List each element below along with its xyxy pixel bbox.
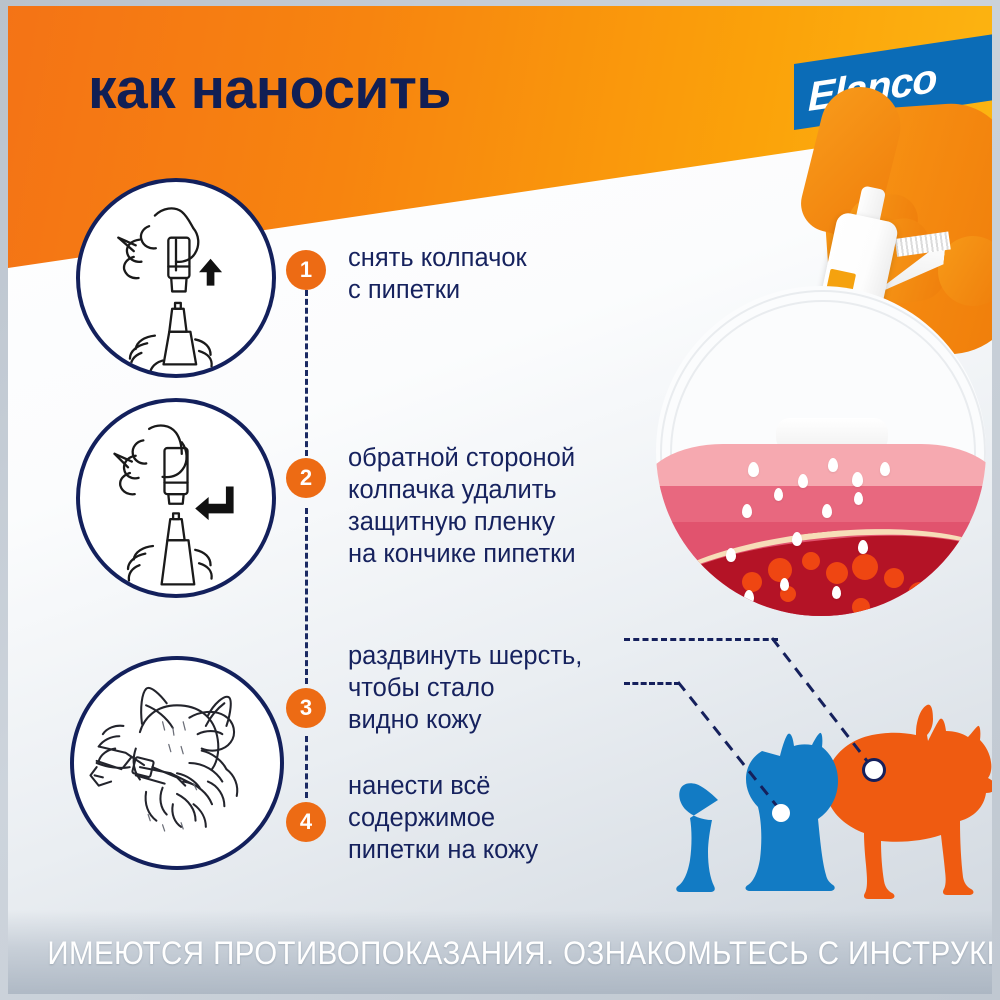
step-2-illustration	[76, 398, 276, 598]
liquid-droplet	[742, 504, 752, 518]
liquid-droplet	[792, 532, 802, 546]
left-bend-arrow-icon	[195, 486, 233, 520]
poster-canvas: как наносить Elanco TM	[8, 6, 992, 994]
liquid-droplet	[780, 578, 789, 591]
red-blood-cell	[884, 568, 904, 588]
step-text-3: раздвинуть шерсть, чтобы стало видно кож…	[348, 640, 582, 736]
step-badge-3[interactable]: 3	[286, 688, 326, 728]
page-title: как наносить	[88, 61, 451, 118]
application-point-kitten	[772, 804, 790, 822]
poster-root: как наносить Elanco TM	[0, 0, 1000, 1000]
liquid-droplet	[852, 472, 863, 487]
step-badge-1[interactable]: 1	[286, 250, 326, 290]
application-point-adult	[862, 758, 886, 782]
step-text-1: снять колпачок с пипетки	[348, 242, 527, 306]
red-blood-cell	[742, 572, 762, 592]
liquid-droplet	[744, 590, 754, 604]
liquid-droplet	[726, 548, 736, 562]
step-text-2: обратной стороной колпачка удалить защит…	[348, 442, 576, 570]
liquid-droplet	[854, 492, 863, 505]
disclaimer-text: ИМЕЮТСЯ ПРОТИВОПОКАЗАНИЯ. ОЗНАКОМЬТЕСЬ С…	[47, 935, 952, 972]
red-blood-cell	[908, 582, 932, 606]
liquid-droplet	[832, 586, 841, 599]
liquid-droplet	[828, 458, 838, 472]
pointer-line-kitten-horizontal	[624, 682, 680, 685]
step-1-illustration	[76, 178, 276, 378]
red-blood-cell	[852, 598, 870, 616]
parting-fur-icon	[74, 660, 280, 866]
up-arrow-icon	[199, 259, 222, 286]
red-blood-cell	[826, 562, 848, 584]
liquid-droplet	[858, 540, 868, 554]
epidermis-layer	[656, 444, 986, 490]
red-blood-cell	[708, 588, 734, 614]
step-badge-2[interactable]: 2	[286, 458, 326, 498]
connector-2-3	[305, 508, 308, 684]
pointer-line-kitten-diagonal	[674, 678, 794, 818]
red-blood-cell	[802, 552, 820, 570]
connector-3-4	[305, 736, 308, 798]
step-badge-4[interactable]: 4	[286, 802, 326, 842]
step-text-4: нанести всё содержимое пипетки на кожу	[348, 770, 538, 866]
liquid-droplet	[798, 474, 808, 488]
red-blood-cell	[768, 558, 792, 582]
hand-removing-cap-icon	[80, 182, 272, 374]
liquid-droplet	[822, 504, 832, 518]
liquid-droplet	[748, 462, 759, 477]
pointer-line-adult-horizontal	[624, 638, 778, 641]
step-3-illustration	[70, 656, 284, 870]
cats-illustration	[618, 626, 992, 926]
hand-reversed-cap-icon	[80, 402, 272, 594]
skin-cross-section-illustration	[656, 286, 986, 616]
connector-1-2	[305, 290, 308, 456]
liquid-droplet	[880, 462, 890, 476]
red-blood-cell	[852, 554, 878, 580]
red-blood-cell	[932, 598, 952, 616]
liquid-droplet	[774, 488, 783, 501]
